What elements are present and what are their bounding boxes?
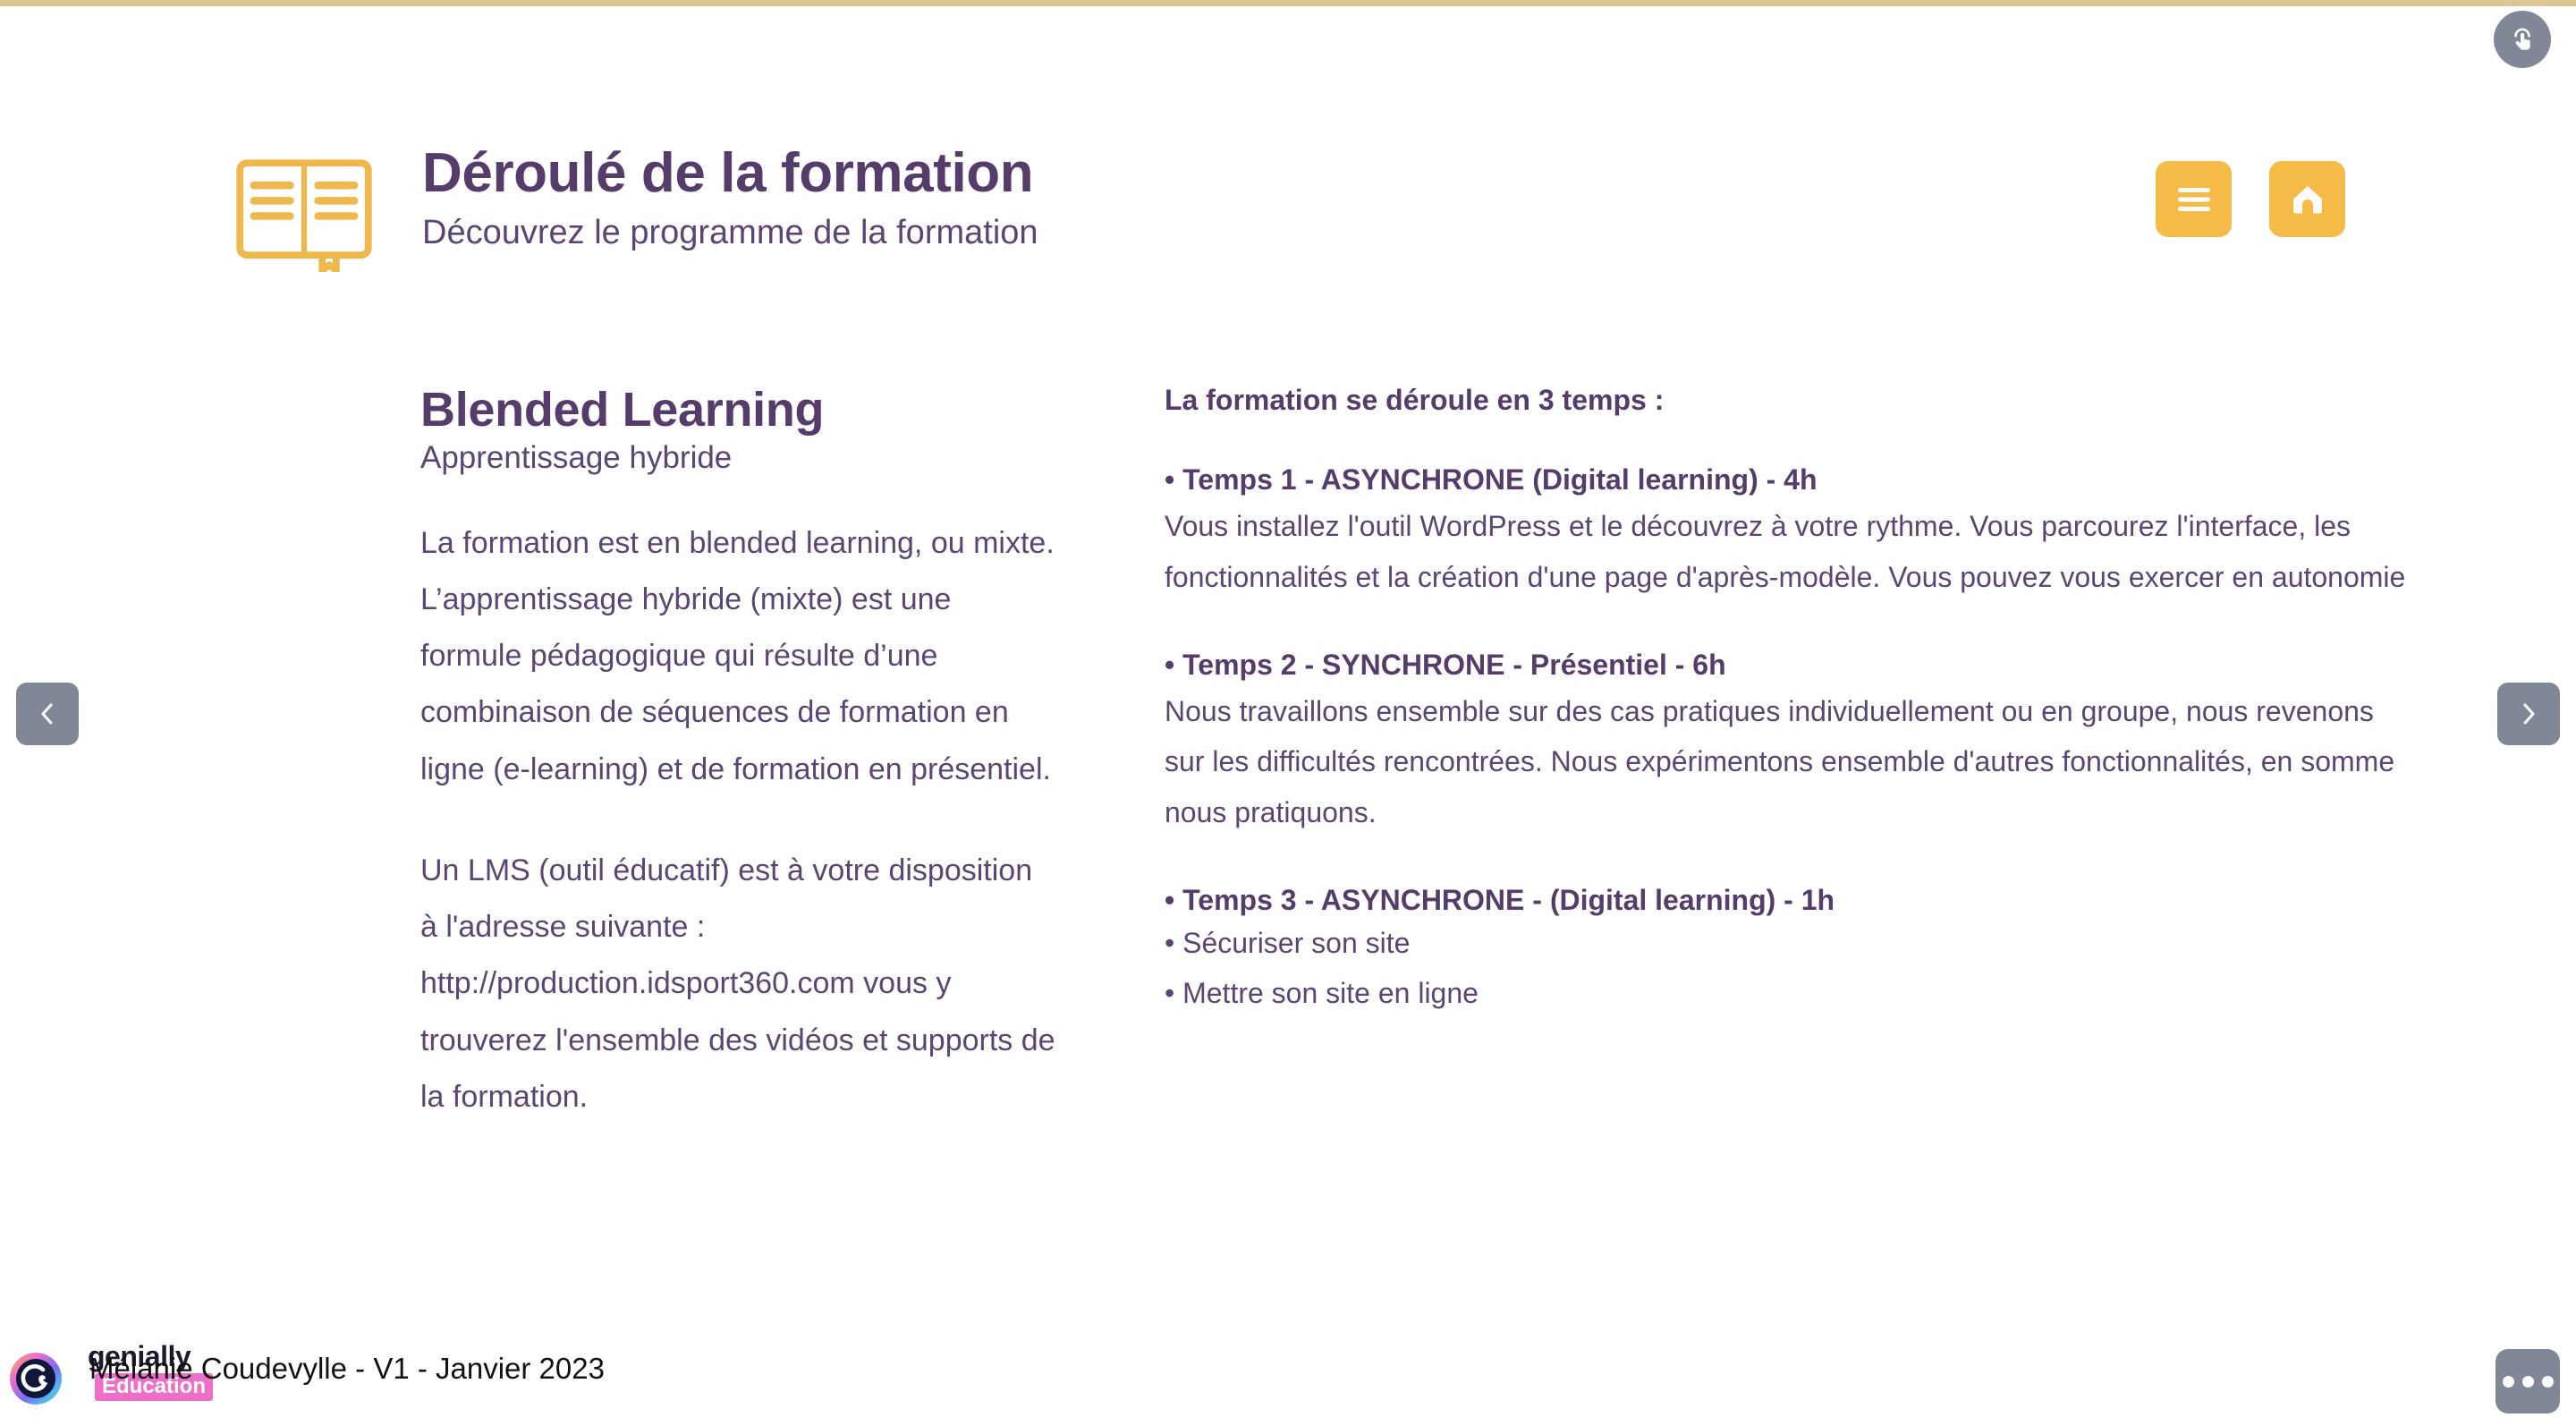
right-content-column: La formation se déroule en 3 temps : • T… bbox=[1165, 383, 2417, 1019]
hamburger-menu-icon bbox=[2174, 184, 2214, 215]
tap-hint-button[interactable] bbox=[2494, 11, 2551, 68]
presentation-slide: Déroulé de la formation Découvrez le pro… bbox=[0, 0, 2576, 1426]
temps-body: Vous installez l'outil WordPress et le d… bbox=[1165, 501, 2417, 602]
temps-heading: • Temps 3 - ASYNCHRONE - (Digital learni… bbox=[1165, 882, 2417, 918]
ellipsis-icon bbox=[2522, 1376, 2534, 1388]
left-content-column: Blended Learning Apprentissage hybride L… bbox=[420, 385, 1055, 1125]
temps-block: • Temps 1 - ASYNCHRONE (Digital learning… bbox=[1165, 462, 2417, 602]
home-icon bbox=[2288, 182, 2327, 217]
page-title: Déroulé de la formation bbox=[422, 143, 1038, 204]
genially-badge[interactable] bbox=[9, 1337, 63, 1421]
temps-heading: • Temps 2 - SYNCHRONE - Présentiel - 6h bbox=[1165, 647, 2417, 683]
menu-button[interactable] bbox=[2156, 161, 2232, 237]
ellipsis-icon bbox=[2503, 1376, 2514, 1388]
left-paragraph-1: La formation est en blended learning, ou… bbox=[420, 515, 1055, 798]
tap-hand-icon bbox=[2507, 24, 2538, 55]
ellipsis-icon bbox=[2542, 1376, 2554, 1388]
temps-list-item: • Sécuriser son site bbox=[1165, 918, 2417, 968]
blended-learning-title: Blended Learning bbox=[420, 385, 1055, 436]
footer-credit-text: Mélanie Coudevylle - V1 - Janvier 2023 bbox=[89, 1354, 605, 1383]
header-button-group bbox=[2156, 161, 2345, 237]
temps-block: • Temps 2 - SYNCHRONE - Présentiel - 6h … bbox=[1165, 647, 2417, 837]
previous-slide-button[interactable] bbox=[16, 683, 79, 745]
header-text-group: Déroulé de la formation Découvrez le pro… bbox=[422, 143, 1038, 252]
home-button[interactable] bbox=[2269, 161, 2345, 237]
next-slide-button[interactable] bbox=[2497, 683, 2560, 745]
temps-heading: • Temps 1 - ASYNCHRONE (Digital learning… bbox=[1165, 462, 2417, 497]
open-book-icon bbox=[234, 157, 374, 270]
top-accent-strip bbox=[0, 0, 2576, 6]
right-lead-text: La formation se déroule en 3 temps : bbox=[1165, 383, 2417, 417]
slide-header: Déroulé de la formation Découvrez le pro… bbox=[234, 152, 2363, 268]
blended-learning-subtitle: Apprentissage hybride bbox=[420, 441, 1055, 476]
chevron-right-icon bbox=[2517, 700, 2540, 728]
page-subtitle: Découvrez le programme de la formation bbox=[422, 215, 1038, 252]
left-paragraph-2: Un LMS (outil éducatif) est à votre disp… bbox=[420, 843, 1055, 1125]
temps-list-item: • Mettre son site en ligne bbox=[1165, 968, 2417, 1018]
more-options-button[interactable] bbox=[2495, 1349, 2560, 1413]
genially-logo-icon bbox=[9, 1352, 63, 1405]
temps-body: Nous travaillons ensemble sur des cas pr… bbox=[1165, 686, 2417, 837]
temps-block: • Temps 3 - ASYNCHRONE - (Digital learni… bbox=[1165, 882, 2417, 1019]
chevron-left-icon bbox=[36, 700, 59, 728]
